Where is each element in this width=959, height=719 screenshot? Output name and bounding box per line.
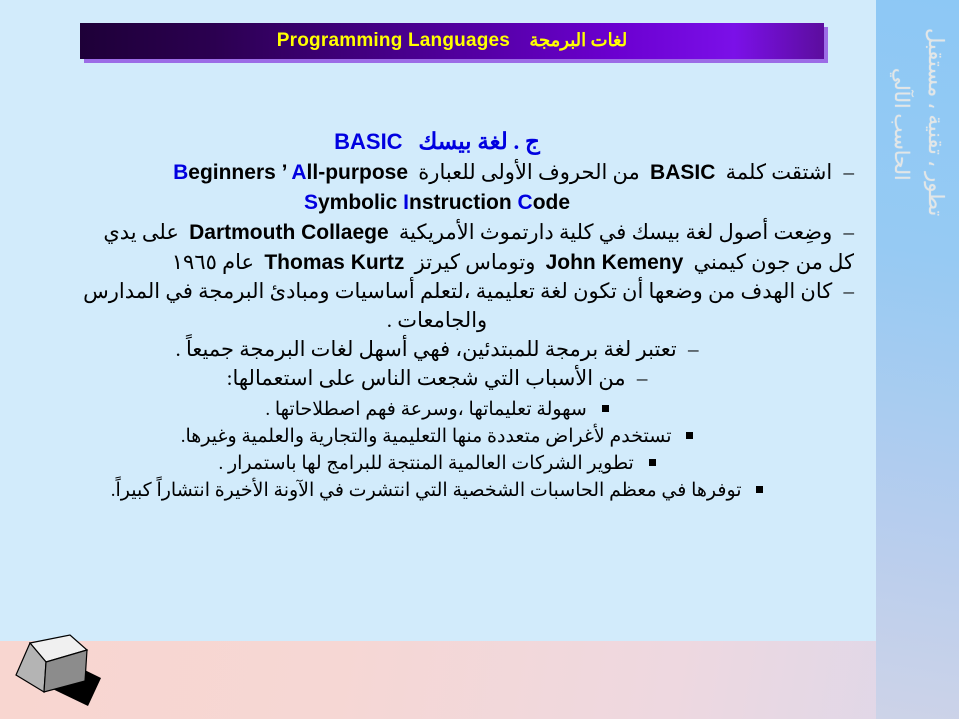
acronym-word-instruction: nstruction: [409, 191, 518, 214]
acronym-line-1: Beginners ’ All-purpose: [173, 159, 408, 188]
list-item: تطوير الشركات العالمية المنتجة للبرامج ل…: [20, 451, 854, 478]
acronym-letter-a: A: [291, 161, 306, 184]
bullet-dash: –: [844, 220, 855, 244]
sidebar-caption-primary: تطور ، تقنية ، مستقبل: [923, 28, 948, 216]
list-item: تستخدم لأغراض متعددة منها التعليمية والت…: [20, 424, 854, 451]
acronym-word-beginners: eginners ’: [188, 161, 291, 184]
bullet-beginners: – تعتبر لغة برمجة للمبتدئين، فهي أسهل لغ…: [20, 335, 854, 364]
bullet-beginners-text: تعتبر لغة برمجة للمبتدئين، فهي أسهل لغات…: [175, 337, 676, 361]
acronym-letter-c: C: [518, 191, 533, 214]
bullet-purpose-line1: – كان الهدف من وضعها أن تكون لغة تعليمية…: [20, 277, 854, 306]
acronym-word-code: ode: [533, 191, 570, 214]
bullet-reasons-intro-text: من الأسباب التي شجعت الناس على استعمالها…: [227, 366, 626, 390]
title-text: لغات البرمجة Programming Languages: [277, 30, 627, 52]
bullet-origins-text-b: على يدي: [103, 220, 179, 244]
bullet-origin-of-name-line2: Symbolic Instruction Code: [20, 188, 854, 218]
bullet-origins-line2: كل من جون كيمني John Kemeny وتوماس كيرتز…: [20, 248, 854, 278]
bullet-origins-text-c: كل من جون كيمني: [694, 250, 854, 274]
bullet-dash: –: [637, 366, 648, 390]
bullet-dash: –: [688, 337, 699, 361]
square-bullet-icon: [602, 405, 609, 412]
bullet-dash: –: [844, 160, 855, 184]
square-bullet-icon: [649, 459, 656, 466]
keycap-page-marker: ٨٢: [8, 622, 138, 717]
list-item: توفرها في معظم الحاسبات الشخصية التي انت…: [20, 478, 854, 505]
square-bullet-icon: [686, 432, 693, 439]
title-text-arabic: لغات البرمجة: [529, 30, 627, 50]
acronym-word-symbolic: ymbolic: [318, 191, 403, 214]
bullet-origin-text-a: اشتقت كلمة: [726, 160, 833, 184]
bullet-reasons-intro: – من الأسباب التي شجعت الناس على استعمال…: [20, 364, 854, 393]
bullet-origins-text-a: وضِعت أصول لغة بيسك في كلية دارتموث الأم…: [399, 220, 832, 244]
acronym-letter-b: B: [173, 161, 188, 184]
bullet-origins-college: Dartmouth Collaege: [189, 219, 389, 248]
bullet-purpose-text: كان الهدف من وضعها أن تكون لغة تعليمية ،…: [83, 279, 832, 303]
bullet-origin-text-b: من الحروف الأولى للعبارة: [418, 160, 639, 184]
square-bullet-icon: [756, 486, 763, 493]
bullet-origin-of-name-line1: – اشتقت كلمة BASIC من الحروف الأولى للعب…: [20, 158, 854, 188]
slide-canvas: تطور ، تقنية ، مستقبل الحاسب الآلي لغات …: [0, 0, 959, 719]
acronym-line-2: Symbolic Instruction Code: [304, 189, 570, 218]
title-text-english: Programming Languages: [277, 30, 510, 51]
keycap-icon: [8, 622, 138, 717]
list-item-label: توفرها في معظم الحاسبات الشخصية التي انت…: [111, 480, 742, 501]
bullet-origin-basic-word: BASIC: [650, 159, 715, 188]
slide-background-footer-band: [0, 641, 959, 719]
list-item: سهولة تعليماتها ،وسرعة فهم اصطلاحاتها .: [20, 397, 854, 424]
slide-content: ج . لغة بيسك BASIC – اشتقت كلمة BASIC من…: [20, 128, 854, 505]
sidebar-caption-secondary: الحاسب الآلي: [889, 68, 914, 181]
bullet-dash: –: [844, 279, 855, 303]
section-heading-arabic: ج . لغة بيسك: [418, 129, 540, 154]
acronym-letter-s: S: [304, 191, 318, 214]
bullet-origins-year: عام ١٩٦٥: [172, 250, 254, 274]
section-heading-english: BASIC: [334, 129, 402, 154]
bullet-origins-line1: – وضِعت أصول لغة بيسك في كلية دارتموث ال…: [20, 218, 854, 248]
list-item-label: سهولة تعليماتها ،وسرعة فهم اصطلاحاتها .: [265, 399, 586, 420]
bullet-purpose-line2: والجامعات .: [20, 306, 854, 335]
bullet-purpose-text-cont: والجامعات .: [387, 308, 487, 332]
acronym-word-allpurpose: ll-purpose: [307, 161, 409, 184]
bullet-origins-text-d: وتوماس كيرتز: [415, 250, 536, 274]
bullet-origins-author-kemeny: John Kemeny: [546, 249, 684, 278]
list-item-label: تطوير الشركات العالمية المنتجة للبرامج ل…: [218, 453, 633, 474]
title-banner: لغات البرمجة Programming Languages: [80, 23, 824, 59]
list-item-label: تستخدم لأغراض متعددة منها التعليمية والت…: [181, 426, 672, 447]
section-heading: ج . لغة بيسك BASIC: [20, 128, 854, 156]
reasons-list: سهولة تعليماتها ،وسرعة فهم اصطلاحاتها . …: [20, 397, 854, 505]
bullet-origins-author-kurtz: Thomas Kurtz: [264, 249, 404, 278]
